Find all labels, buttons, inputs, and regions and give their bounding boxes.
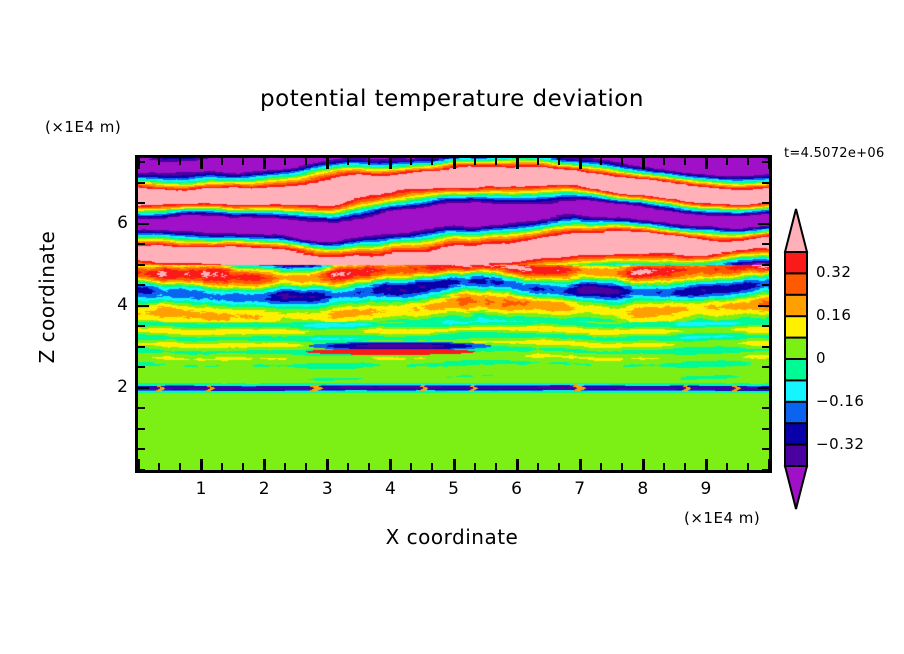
x-tick-major [579,459,582,470]
y-tick-minor [138,448,145,450]
y-tick-minor-right [762,366,769,368]
plot-frame [135,155,772,473]
x-tick-minor-top [242,158,244,165]
x-tick-minor [347,463,349,470]
x-tick-minor [537,463,539,470]
x-tick-major [263,459,266,470]
x-tick-major-top [516,158,519,169]
x-tick-label: 3 [307,479,347,499]
x-tick-minor [410,463,412,470]
y-tick-minor-right [762,325,769,327]
x-tick-minor [747,463,749,470]
y-tick-minor-right [762,428,769,430]
x-tick-major-top [768,158,771,169]
plot-area[interactable] [135,155,772,473]
x-tick-major-top [200,158,203,169]
x-tick-major [389,459,392,470]
x-tick-label: 9 [686,479,726,499]
y-tick-minor-right [762,264,769,266]
y-tick-minor-right [762,182,769,184]
x-tick-minor-top [684,158,686,165]
colorbar-tick-label: 0 [816,349,826,367]
contour-field [138,158,769,470]
x-tick-minor-top [305,158,307,165]
y-tick-major-right [758,387,769,389]
x-tick-major-top [453,158,456,169]
x-tick-minor-top [347,158,349,165]
x-tick-major [326,459,329,470]
colorbar-band-5 [785,359,807,381]
x-tick-minor [495,463,497,470]
x-tick-label: 6 [497,479,537,499]
colorbar-band-9 [785,445,807,467]
y-tick-minor-right [762,202,769,204]
colorbar-cap-high [785,209,807,252]
x-tick-major-top [642,158,645,169]
x-tick-major [200,459,203,470]
y-tick-minor [138,325,145,327]
x-tick-minor-top [537,158,539,165]
x-axis-title: X coordinate [0,525,904,549]
x-tick-major [705,459,708,470]
y-tick-label: 6 [88,213,128,233]
y-tick-minor-right [762,346,769,348]
colorbar-tick-label: −0.32 [816,435,864,453]
x-tick-label: 8 [623,479,663,499]
y-tick-minor [138,243,145,245]
x-tick-minor [368,463,370,470]
colorbar-tick-label: 0.32 [816,263,851,281]
y-tick-major [138,387,149,389]
x-tick-major-top [326,158,329,169]
y-axis-unit-label: (×1E4 m) [45,118,121,136]
y-tick-minor-right [762,448,769,450]
x-tick-major [642,459,645,470]
x-tick-minor-top [179,158,181,165]
x-tick-major-top [389,158,392,169]
x-tick-major-top [263,158,266,169]
x-tick-minor-top [221,158,223,165]
figure-canvas: potential temperature deviation (×1E4 m)… [0,0,904,654]
x-tick-minor [726,463,728,470]
y-tick-minor-right [762,469,769,471]
y-tick-minor [138,428,145,430]
x-tick-minor [242,463,244,470]
x-tick-major-top [137,158,140,169]
colorbar-cap-low [785,466,807,509]
x-tick-minor [431,463,433,470]
x-tick-minor [158,463,160,470]
x-tick-label: 7 [560,479,600,499]
colorbar-band-3 [785,316,807,338]
y-tick-major-right [758,223,769,225]
page-title: potential temperature deviation [0,86,904,112]
y-tick-minor [138,161,145,163]
x-tick-minor [474,463,476,470]
x-tick-major-top [579,158,582,169]
y-tick-minor [138,366,145,368]
x-tick-minor [663,463,665,470]
y-tick-minor-right [762,284,769,286]
colorbar-band-6 [785,380,807,402]
y-tick-minor [138,202,145,204]
x-tick-minor-top [726,158,728,165]
y-tick-minor [138,264,145,266]
x-tick-major [516,459,519,470]
colorbar-band-2 [785,295,807,317]
x-tick-minor-top [621,158,623,165]
x-tick-minor-top [158,158,160,165]
colorbar[interactable] [779,208,813,510]
colorbar-band-8 [785,423,807,445]
x-tick-major [453,459,456,470]
y-tick-label: 4 [88,295,128,315]
colorbar-labels: 0.320.160−0.16−0.32 [816,208,896,510]
x-tick-minor-top [368,158,370,165]
x-tick-minor-top [284,158,286,165]
timestamp-annotation: t=4.5072e+06 [784,146,885,161]
x-tick-minor [684,463,686,470]
y-tick-major [138,223,149,225]
x-tick-minor [179,463,181,470]
colorbar-band-0 [785,252,807,274]
x-tick-minor [284,463,286,470]
x-tick-major-top [705,158,708,169]
x-tick-minor-top [663,158,665,165]
y-tick-minor [138,346,145,348]
x-tick-minor-top [474,158,476,165]
x-tick-minor-top [410,158,412,165]
colorbar-band-4 [785,338,807,360]
x-tick-label: 2 [244,479,284,499]
colorbar-band-1 [785,273,807,295]
y-tick-major [138,305,149,307]
y-tick-minor [138,284,145,286]
x-tick-minor-top [747,158,749,165]
x-tick-label: 1 [181,479,221,499]
colorbar-tick-label: −0.16 [816,392,864,410]
x-tick-label: 5 [434,479,474,499]
y-axis-title: Z coordinate [35,187,59,407]
x-tick-minor-top [495,158,497,165]
x-tick-minor-top [431,158,433,165]
y-tick-minor-right [762,407,769,409]
x-tick-minor-top [600,158,602,165]
x-tick-label: 4 [370,479,410,499]
x-tick-minor [600,463,602,470]
x-tick-minor [221,463,223,470]
y-tick-minor-right [762,161,769,163]
y-tick-minor [138,182,145,184]
y-tick-minor [138,407,145,409]
colorbar-tick-label: 0.16 [816,306,851,324]
x-tick-minor [558,463,560,470]
y-tick-minor [138,469,145,471]
colorbar-band-7 [785,402,807,424]
x-tick-minor-top [558,158,560,165]
y-tick-minor-right [762,243,769,245]
x-tick-minor [305,463,307,470]
y-tick-label: 2 [88,377,128,397]
y-tick-major-right [758,305,769,307]
x-tick-minor [621,463,623,470]
